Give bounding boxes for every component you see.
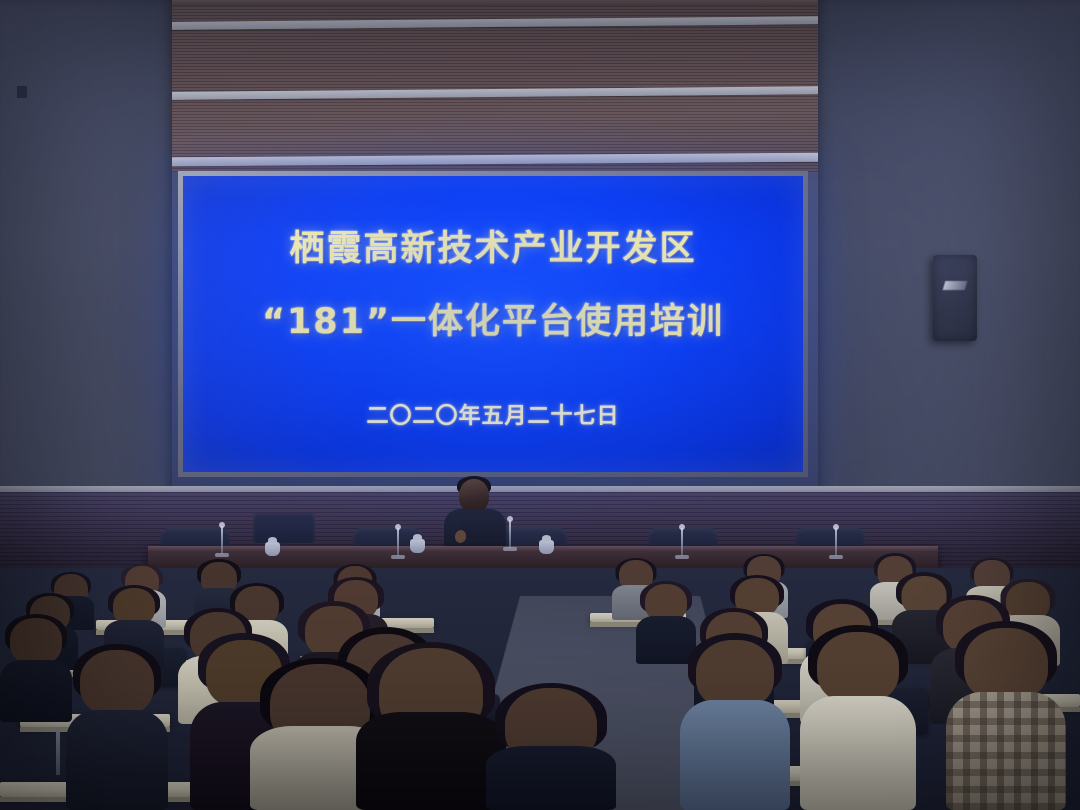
audience-person-ny-shirt [356,648,506,810]
ceiling-top-edge [150,0,850,6]
presenter-head [459,479,489,513]
wall-speaker-icon [933,255,977,341]
microphone-icon [681,528,683,556]
projection-screen: 栖霞高新技术产业开发区 “181”一体化平台使用培训 二〇二〇年五月二十七日 [183,176,803,472]
projection-screen-frame: 栖霞高新技术产业开发区 “181”一体化平台使用培训 二〇二〇年五月二十七日 [178,171,808,477]
audience-person [800,632,916,810]
audience-person [486,688,616,810]
presenter-person [443,479,507,555]
slide-title-line-1: 栖霞高新技术产业开发区 [289,232,696,267]
teacup-icon [410,539,425,553]
microphone-icon [835,528,837,556]
desk-leg [56,727,60,775]
teacup-icon [265,542,280,556]
slide-title-line-2: “181”一体化平台使用培训 [262,305,724,340]
slide-content: 栖霞高新技术产业开发区 “181”一体化平台使用培训 二〇二〇年五月二十七日 [183,176,803,472]
audience-person [946,628,1066,810]
audience-person [66,650,168,810]
speaker-brand-logo [943,281,968,290]
microphone-icon [509,520,511,548]
teacup-icon [539,540,554,554]
conference-hall-photo: 栖霞高新技术产业开发区 “181”一体化平台使用培训 二〇二〇年五月二十七日 [0,0,1080,810]
audience-person [0,618,72,722]
microphone-icon [221,526,223,554]
slide-date: 二〇二〇年五月二十七日 [366,398,619,430]
stage-monitor-icon [253,513,315,543]
speaker-mount-bracket [17,86,27,98]
audience-person [680,640,790,810]
microphone-icon [397,528,399,556]
